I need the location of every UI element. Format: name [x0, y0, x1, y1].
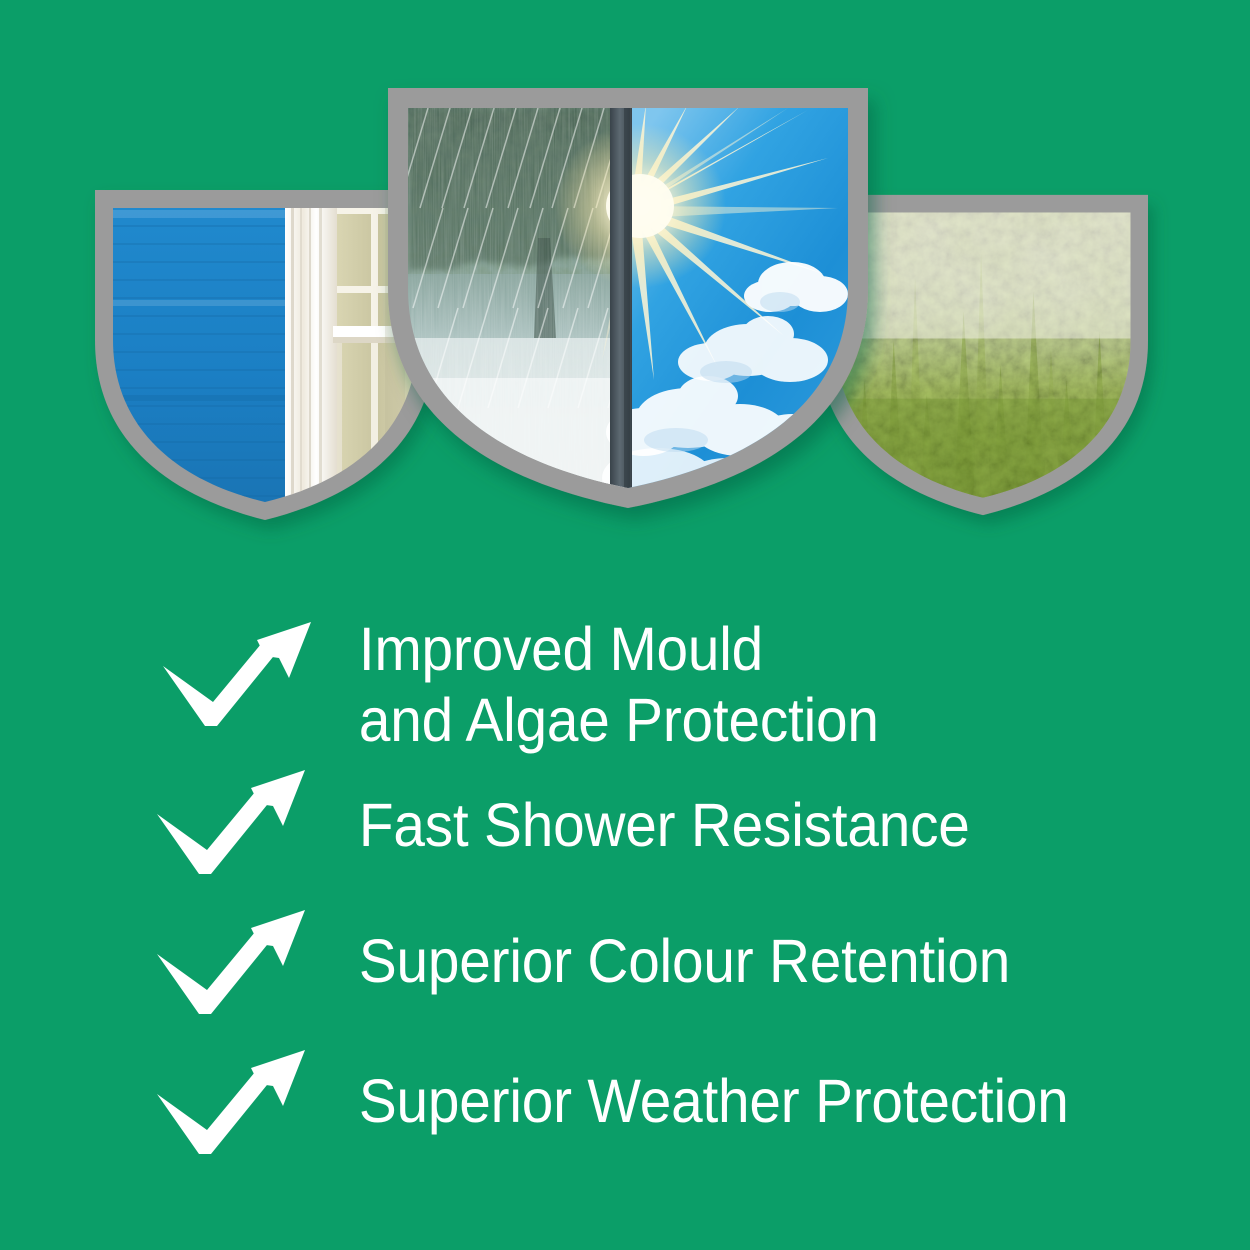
shield-cluster [0, 0, 1250, 560]
benefit-item-1: Fast Shower Resistance [155, 762, 1215, 902]
benefit-item-2: Superior Colour Retention [155, 902, 1215, 1036]
poster-canvas: Improved Mould and Algae Protection Fast… [0, 0, 1250, 1250]
check-arrow-icon-0 [155, 596, 331, 762]
shield-weather [388, 88, 868, 508]
check-arrow-icon-1 [155, 762, 331, 902]
check-arrow-icon-3 [155, 1036, 331, 1170]
check-arrow-icon-2 [155, 902, 331, 1036]
benefit-item-0: Improved Mould and Algae Protection [155, 596, 1215, 762]
benefit-label-3: Superior Weather Protection [331, 1036, 1153, 1137]
benefit-item-3: Superior Weather Protection [155, 1036, 1215, 1170]
benefit-label-2: Superior Colour Retention [331, 902, 1153, 997]
shield-masonry [95, 190, 435, 520]
benefit-label-1: Fast Shower Resistance [331, 762, 1153, 861]
benefit-label-0: Improved Mould and Algae Protection [331, 596, 1153, 756]
benefits-list: Improved Mould and Algae Protection Fast… [155, 596, 1215, 1170]
